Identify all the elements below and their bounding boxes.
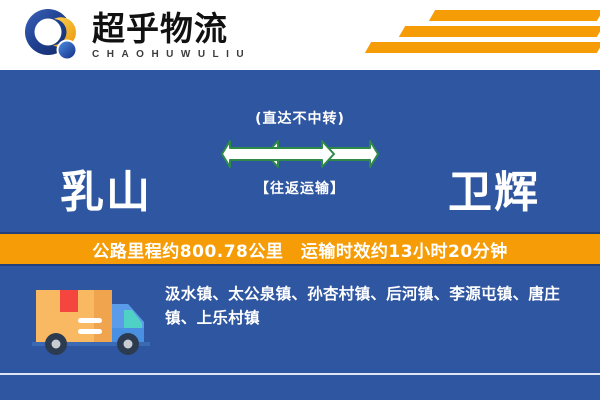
- route-middle: (直达不中转) 【往返运输】: [200, 108, 400, 198]
- brand-text-block: 超乎物流 CHAOHUWULIU: [92, 11, 251, 62]
- route-section: 乳山 (直达不中转) 【往返运输】 卫辉: [0, 72, 600, 230]
- brand-block: 超乎物流 CHAOHUWULIU: [22, 6, 251, 66]
- origin-city: 乳山: [60, 156, 152, 220]
- decorative-stripes: [340, 10, 600, 62]
- round-trip-note: 【往返运输】: [200, 178, 400, 198]
- bidirectional-arrow-icon: [200, 134, 400, 174]
- poster-header: 超乎物流 CHAOHUWULIU: [0, 0, 600, 72]
- poster-footer: [0, 375, 600, 400]
- destination-city: 卫辉: [448, 156, 540, 220]
- delivery-truck-icon: [32, 278, 150, 360]
- stripe-3: [365, 42, 600, 53]
- distance-duration-text: 公路里程约800.78公里 运输时效约13小时20分钟: [92, 237, 507, 262]
- stripe-1: [429, 10, 600, 21]
- brand-pinyin: CHAOHUWULIU: [92, 48, 251, 62]
- chaohu-circle-logo-icon: [22, 7, 82, 65]
- distance-duration-bar: 公路里程约800.78公里 运输时效约13小时20分钟: [0, 232, 600, 266]
- logistics-route-poster: 超乎物流 CHAOHUWULIU 乳山 (直达不中转) 【往返运输】 卫辉: [0, 0, 600, 400]
- brand-name: 超乎物流: [92, 11, 251, 47]
- stripe-2: [399, 26, 600, 37]
- direct-route-note: (直达不中转): [200, 108, 400, 128]
- served-towns-list: 汲水镇、太公泉镇、孙杏村镇、后河镇、李源屯镇、唐庄镇、上乐村镇: [165, 282, 575, 330]
- served-towns-section: 汲水镇、太公泉镇、孙杏村镇、后河镇、李源屯镇、唐庄镇、上乐村镇: [0, 266, 600, 373]
